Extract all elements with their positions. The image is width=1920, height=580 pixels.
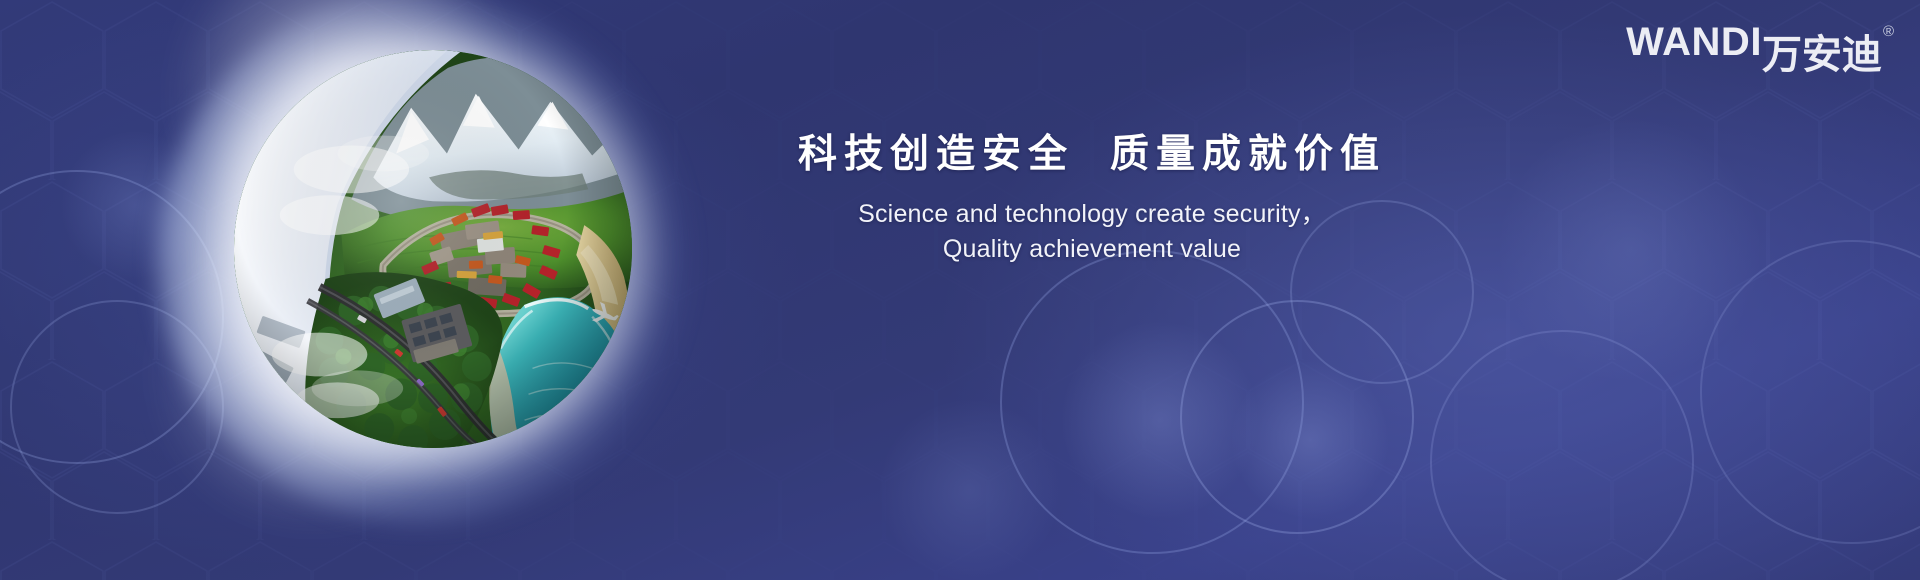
planet-sphere-image <box>234 50 632 448</box>
logo-chinese-text: 万安迪 <box>1762 22 1882 80</box>
headline-chinese: 科技创造安全质量成就价值 <box>742 132 1442 179</box>
headline-part-2: 质量成就价值 <box>1110 133 1386 176</box>
brand-logo[interactable]: WANDI万安迪® <box>1626 22 1894 80</box>
subtitle-english: Science and technology create security， … <box>742 197 1442 268</box>
tiny-planet-globe <box>196 24 648 476</box>
subtitle-line-1: Science and technology create security， <box>742 197 1442 233</box>
headline-part-1: 科技创造安全 <box>798 133 1074 176</box>
promo-banner: WANDI万安迪® 科技创造安全质量成就价值 Science and techn… <box>0 0 1920 580</box>
logo-latin-text: WANDI <box>1626 22 1762 62</box>
subtitle-line-2: Quality achievement value <box>742 232 1442 268</box>
slogan-block: 科技创造安全质量成就价值 Science and technology crea… <box>742 132 1442 268</box>
registered-trademark-icon: ® <box>1883 24 1894 39</box>
